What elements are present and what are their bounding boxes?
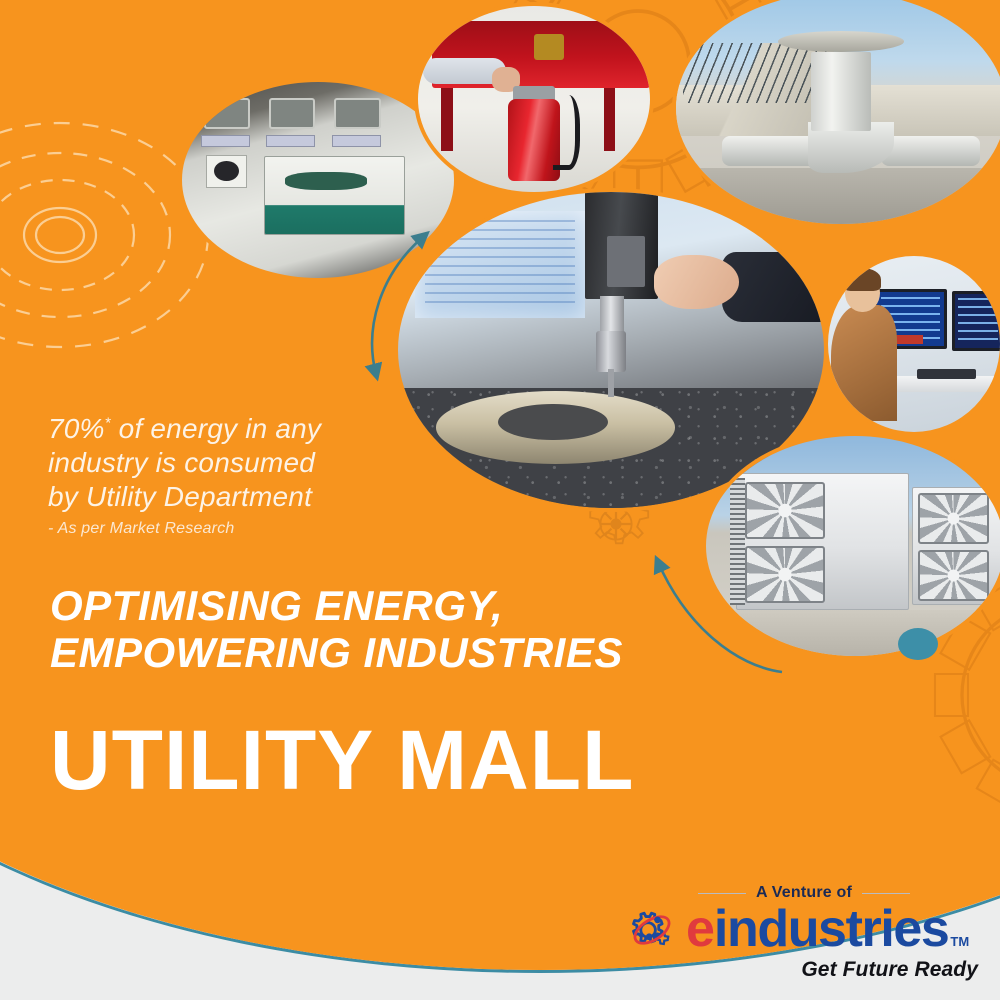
- brand-name-block: UTILITY MALL: [50, 718, 634, 802]
- energy-statistic-block: 70%* of energy in any industry is consum…: [48, 412, 568, 538]
- stat-line-3: by Utility Department: [48, 480, 568, 514]
- footer-logo-lockup: A Venture of e industries TM: [624, 884, 984, 982]
- logo-row: e industries TM: [624, 904, 984, 956]
- tagline: Get Future Ready: [624, 958, 984, 982]
- photo-rooftop-duct: [676, 0, 1000, 224]
- divider-right: [862, 893, 910, 894]
- wordmark: e industries TM: [686, 905, 969, 954]
- wordmark-industries: industries: [714, 905, 949, 954]
- gear-orbit-logo-icon: [624, 904, 680, 956]
- stat-source: - As per Market Research: [48, 520, 568, 538]
- headline-line-2: EMPOWERING INDUSTRIES: [50, 629, 623, 676]
- trademark-symbol: TM: [950, 934, 969, 949]
- stat-line1-rest: of energy in any: [111, 413, 321, 444]
- stat-percent: 70%: [48, 413, 105, 444]
- photo-fire-safety: [418, 6, 650, 192]
- stat-line-2: industry is consumed: [48, 446, 568, 480]
- teal-dot: [898, 628, 938, 660]
- photo-engineer: [828, 256, 1000, 432]
- wordmark-e: e: [686, 905, 714, 954]
- venture-label: A Venture of: [756, 884, 852, 902]
- promotional-poster: 70%* of energy in any industry is consum…: [0, 0, 1000, 1000]
- headline-block: OPTIMISING ENERGY, EMPOWERING INDUSTRIES: [50, 582, 623, 676]
- divider-left: [698, 893, 746, 894]
- stat-line-1: 70%* of energy in any: [48, 412, 568, 446]
- photo-hvac-units: [706, 436, 1000, 656]
- brand-name: UTILITY MALL: [50, 718, 634, 802]
- venture-row: A Venture of: [624, 884, 984, 902]
- headline-line-1: OPTIMISING ENERGY,: [50, 582, 623, 629]
